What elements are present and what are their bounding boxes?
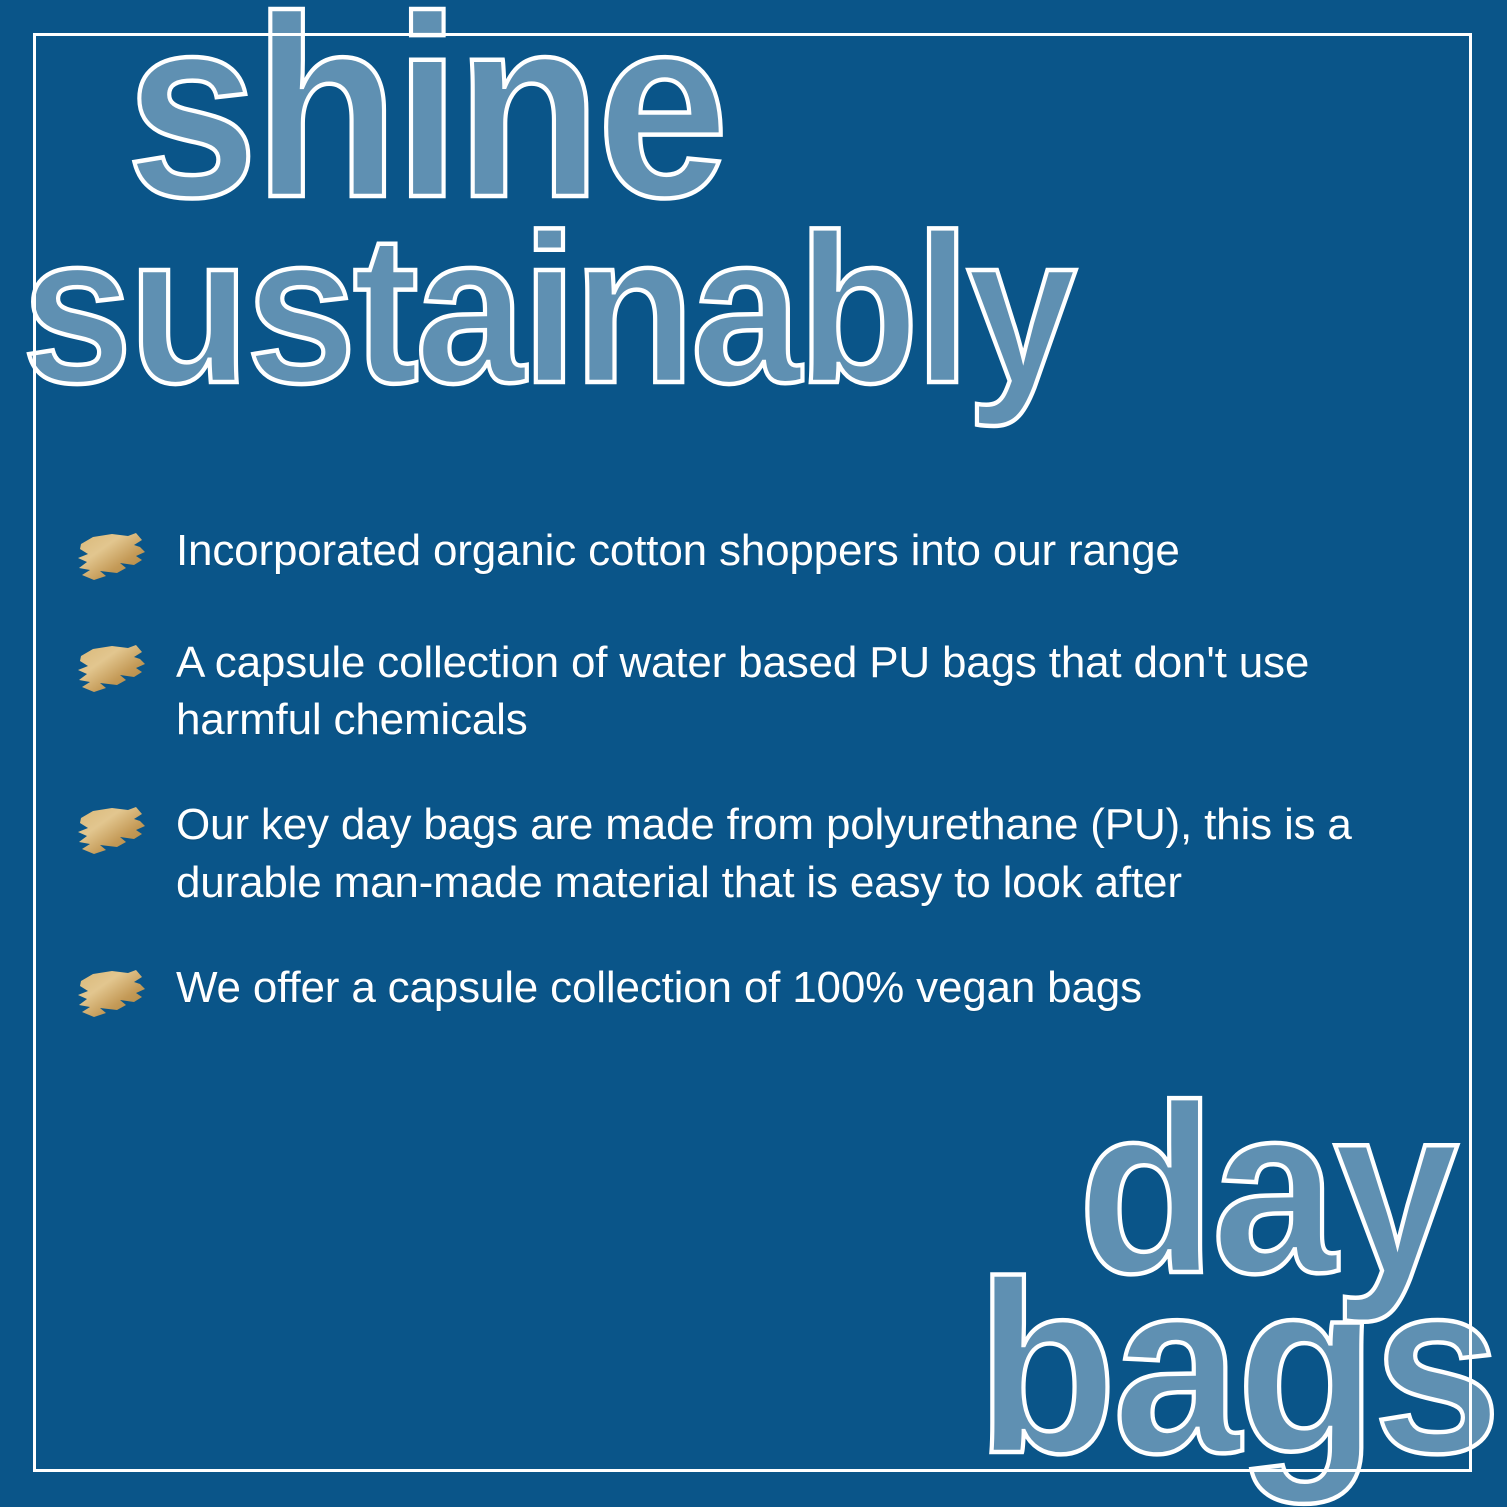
headline-top-line1: shine xyxy=(126,6,725,207)
list-item: Our key day bags are made from polyureth… xyxy=(76,796,1446,910)
headline-top-line2: sustainably xyxy=(22,226,1073,391)
list-item-label: A capsule collection of water based PU b… xyxy=(176,634,1446,748)
gold-brush-stroke-icon xyxy=(76,965,150,1023)
gold-brush-stroke-icon xyxy=(76,640,150,698)
list-item-label: Our key day bags are made from polyureth… xyxy=(176,796,1446,910)
list-item: We offer a capsule collection of 100% ve… xyxy=(76,959,1446,1023)
headline-bottom-line2: bags xyxy=(976,1272,1497,1463)
gold-brush-stroke-icon xyxy=(76,528,150,586)
feature-bullet-list: Incorporated organic cotton shoppers int… xyxy=(76,522,1446,1023)
list-item-label: We offer a capsule collection of 100% ve… xyxy=(176,959,1142,1016)
list-item-label: Incorporated organic cotton shoppers int… xyxy=(176,522,1180,579)
gold-brush-stroke-icon xyxy=(76,802,150,860)
list-item: Incorporated organic cotton shoppers int… xyxy=(76,522,1446,586)
list-item: A capsule collection of water based PU b… xyxy=(76,634,1446,748)
sustainability-poster: shine sustainably Incor xyxy=(0,0,1507,1507)
